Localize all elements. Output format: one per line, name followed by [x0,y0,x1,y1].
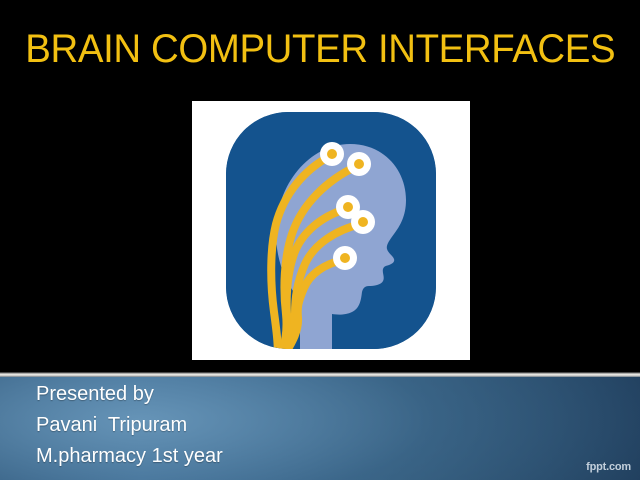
fppt-watermark: fppt.com [586,461,631,473]
electrode [333,246,357,270]
presenter-program: M.pharmacy 1st year [36,441,466,472]
presenter-info: Presented by Pavani Tripuram M.pharmacy … [36,379,466,472]
electrode [320,142,344,166]
electrode [347,152,371,176]
brain-computer-interface-illustration [226,112,436,349]
electrode [351,210,375,234]
presenter-name: Pavani Tripuram [36,410,466,441]
slide-title-area: BRAIN COMPUTER INTERFACES [0,18,640,80]
page-title: BRAIN COMPUTER INTERFACES [25,26,615,72]
presented-by-label: Presented by [36,379,466,410]
presentation-slide: BRAIN COMPUTER INTERFACES [0,0,640,480]
slide-image-frame [192,101,470,360]
bci-badge [226,112,436,349]
